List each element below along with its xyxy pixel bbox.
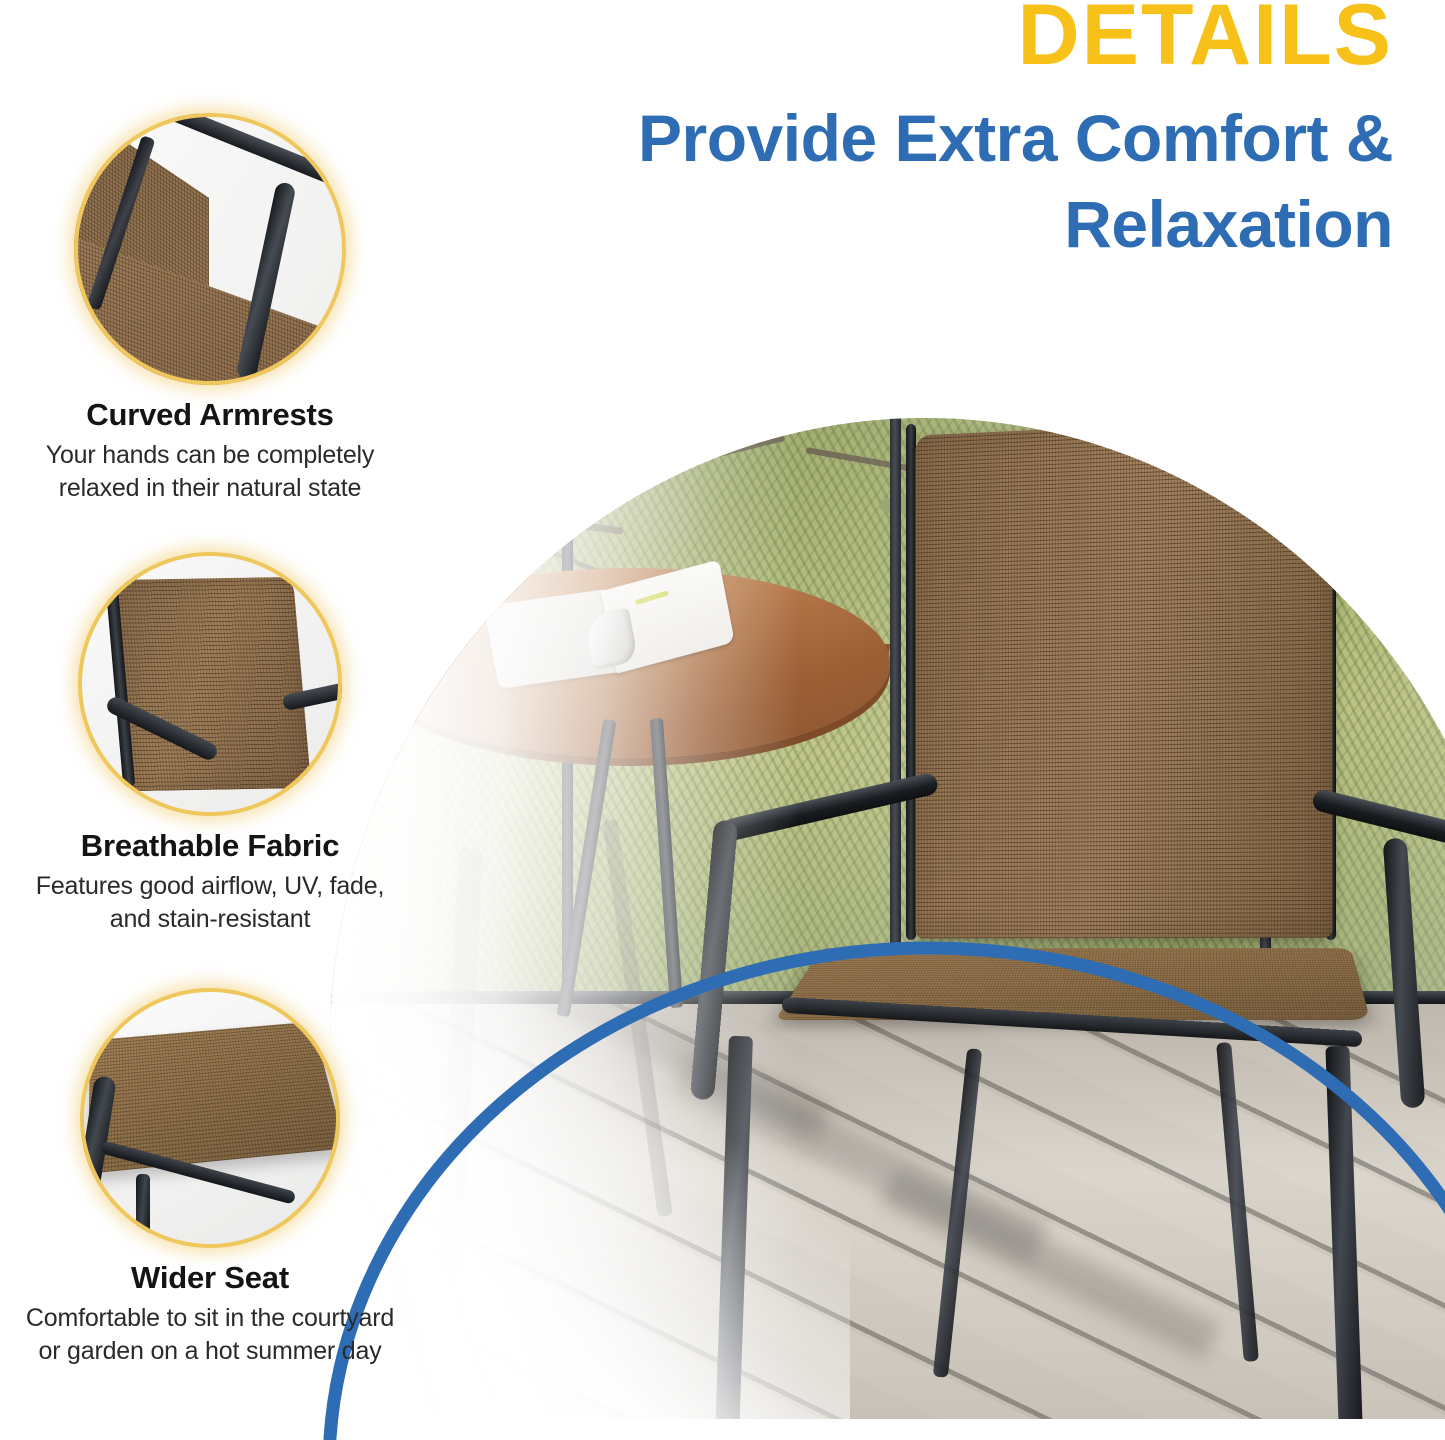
feature-1-title: Curved Armrests — [0, 397, 420, 433]
seat-closeup-photo — [80, 988, 340, 1248]
feature-breathable-fabric: Breathable Fabric Features good airflow,… — [0, 552, 420, 935]
feature-wider-seat: Wider Seat Comfortable to sit in the cou… — [0, 988, 420, 1367]
feature-3-desc-line-2: or garden on a hot summer day — [0, 1335, 420, 1368]
hero-photo-clip — [330, 330, 1445, 1419]
fabric-closeup-photo — [78, 552, 342, 816]
hero-ellipse-mask — [330, 418, 1445, 1419]
headline-line-2: Relaxation — [1064, 190, 1393, 259]
feature-2-title: Breathable Fabric — [0, 828, 420, 864]
chair-leg-rear-left — [933, 1048, 982, 1378]
header: DETAILS Provide Extra Comfort & Relaxati… — [0, 0, 1445, 290]
chair-leg-front-right — [1325, 1046, 1362, 1419]
chair-arm-support-right — [1383, 837, 1426, 1108]
feature-2-inset — [78, 552, 342, 816]
feature-1-desc-line-1: Your hands can be completely — [0, 439, 420, 472]
headline-line-1: Provide Extra Comfort & — [638, 104, 1393, 173]
feature-2-desc-line-2: and stain-resistant — [0, 903, 420, 936]
chair-leg-rear-right — [1216, 1042, 1259, 1362]
eyebrow-details: DETAILS — [1017, 0, 1393, 78]
chair-back-sling — [915, 418, 1332, 938]
feature-3-desc-line-1: Comfortable to sit in the courtyard — [0, 1302, 420, 1335]
feature-3-inset — [80, 988, 340, 1248]
feature-1-desc-line-2: relaxed in their natural state — [0, 472, 420, 505]
seat-inset-leg — [136, 1174, 150, 1236]
feature-3-title: Wider Seat — [0, 1260, 420, 1296]
feature-2-desc-line-1: Features good airflow, UV, fade, — [0, 870, 420, 903]
hero-photo — [330, 330, 1445, 1419]
